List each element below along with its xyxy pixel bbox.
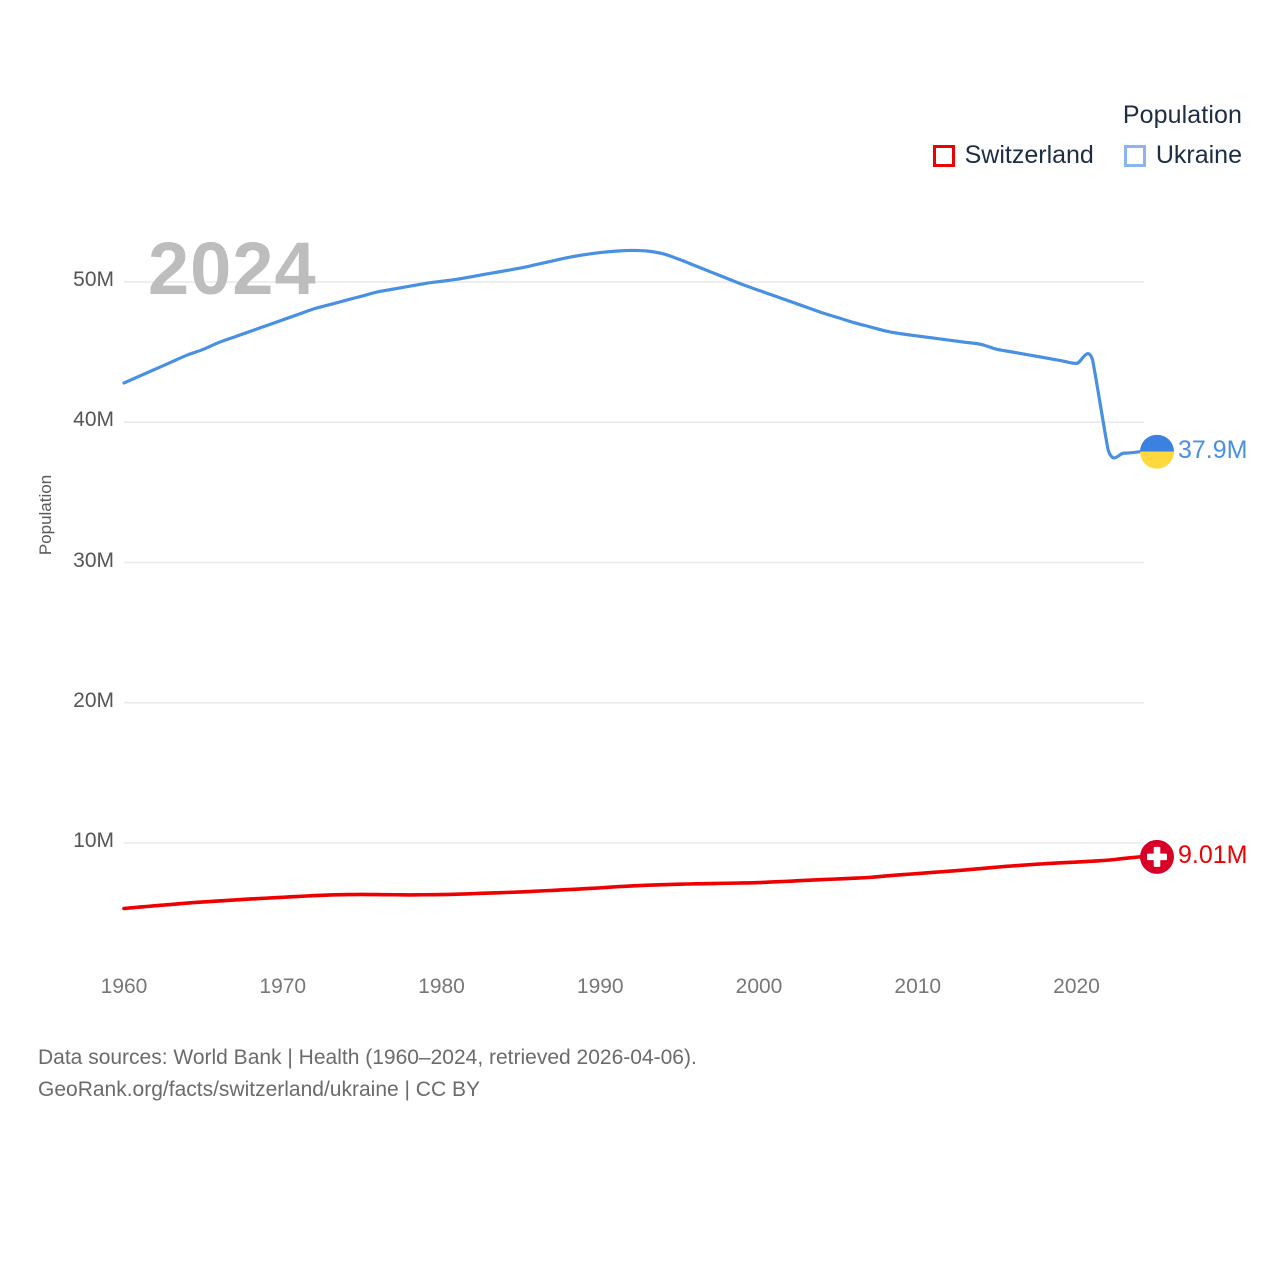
year-watermark: 2024 xyxy=(148,232,317,306)
legend-title: Population xyxy=(1123,101,1242,130)
x-tick-label-2000: 2000 xyxy=(714,975,804,999)
y-tick-label-10M: 10M xyxy=(42,829,114,853)
y-tick-label-20M: 20M xyxy=(42,689,114,713)
x-tick-label-2020: 2020 xyxy=(1032,975,1122,999)
chart-legend: Switzerland Ukraine xyxy=(933,141,1242,170)
population-line-chart: Population Switzerland Ukraine 2024 Popu… xyxy=(0,0,1280,1280)
y-tick-label-30M: 30M xyxy=(42,549,114,573)
legend-swatch-ukraine xyxy=(1124,145,1146,167)
footer-sources-line: Data sources: World Bank | Health (1960–… xyxy=(38,1042,697,1074)
chart-footer: Data sources: World Bank | Health (1960–… xyxy=(38,1042,697,1106)
switzerland-flag-circle-marker xyxy=(1140,840,1174,874)
x-tick-label-1960: 1960 xyxy=(79,975,169,999)
series-line-switzerland xyxy=(124,857,1140,909)
switzerland-end-value-label: 9.01M xyxy=(1178,841,1247,870)
grid-lines xyxy=(124,282,1144,843)
x-tick-label-1970: 1970 xyxy=(238,975,328,999)
legend-item-switzerland[interactable]: Switzerland xyxy=(933,141,1094,170)
legend-label-switzerland: Switzerland xyxy=(965,141,1094,170)
legend-swatch-switzerland xyxy=(933,145,955,167)
legend-item-ukraine[interactable]: Ukraine xyxy=(1124,141,1242,170)
x-tick-label-1980: 1980 xyxy=(397,975,487,999)
x-tick-label-1990: 1990 xyxy=(555,975,645,999)
legend-label-ukraine: Ukraine xyxy=(1156,141,1242,170)
x-tick-label-2010: 2010 xyxy=(873,975,963,999)
y-tick-label-50M: 50M xyxy=(42,268,114,292)
footer-attribution-line: GeoRank.org/facts/switzerland/ukraine | … xyxy=(38,1074,697,1106)
ukraine-end-value-label: 37.9M xyxy=(1178,436,1247,465)
y-tick-label-40M: 40M xyxy=(42,408,114,432)
ukraine-flag-circle-marker xyxy=(1140,435,1174,469)
